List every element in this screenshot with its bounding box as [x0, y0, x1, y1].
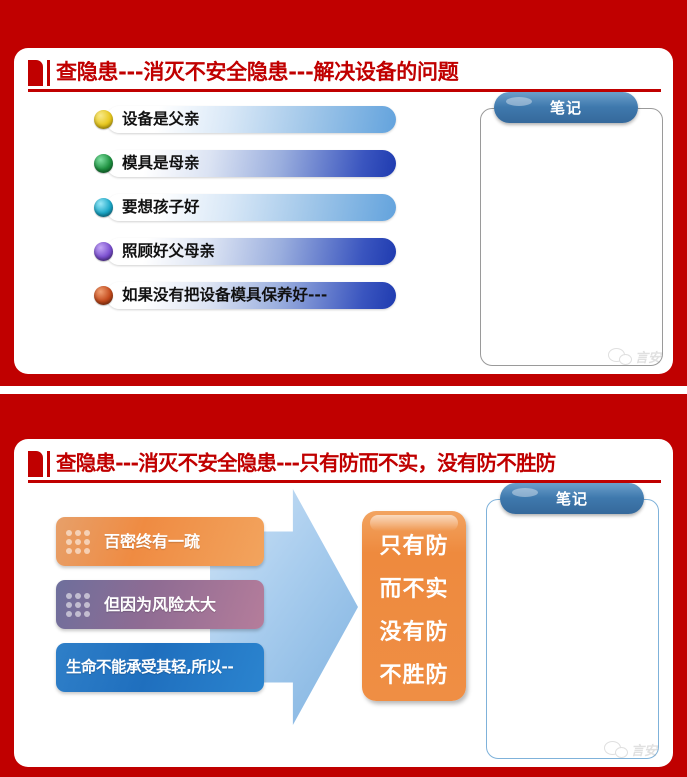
slide-separator	[0, 386, 687, 394]
list-item-label: 照顾好父母亲	[122, 240, 215, 263]
wechat-logo-icon	[608, 348, 632, 365]
list-item-label: 要想孩子好	[122, 196, 200, 219]
list-item[interactable]: 百密终有一疏	[56, 517, 264, 566]
slide-1-notes-panel: 笔记 那就是对父母的 不忠不孝! 言安	[476, 92, 673, 370]
bullet-dot-icon	[94, 242, 113, 261]
list-item-label: 百密终有一疏	[104, 530, 200, 553]
list-item-label: 模具是母亲	[122, 152, 200, 175]
slide-2: 查隐患---消灭不安全隐患---只有防而不实，没有防不胜防 百密终有一疏 但因为…	[0, 394, 687, 777]
slide-2-notes-panel: 笔记 责任重于泰山 严防死守 超零灾害迈进 言安	[482, 483, 669, 763]
notes-tab[interactable]: 笔记	[494, 92, 638, 123]
list-item-label: 但因为风险太大	[104, 593, 216, 616]
conclusion-lines: 只有防 而不实 没有防 不胜防	[362, 525, 466, 697]
watermark: 言安	[604, 740, 657, 759]
bullet-dot-icon	[94, 154, 113, 173]
list-item-label: 生命不能承受其轻,所以--	[66, 656, 233, 679]
bullet-dot-icon	[94, 110, 113, 129]
list-item[interactable]: 如果没有把设备模具保养好---	[94, 282, 476, 309]
dot-grid-icon	[66, 593, 90, 617]
dot-grid-icon	[66, 530, 90, 554]
slide-1: 查隐患---消灭不安全隐患---解决设备的问题 设备是父亲 模具是母亲	[0, 0, 687, 386]
notes-tab-label: 笔记	[500, 488, 644, 509]
bullet-dot-icon	[94, 198, 113, 217]
conclusion-line: 只有防	[362, 525, 466, 568]
slide-1-panel: 查隐患---消灭不安全隐患---解决设备的问题 设备是父亲 模具是母亲	[14, 48, 673, 374]
title-marker-icon	[28, 451, 43, 477]
slide-2-title: 查隐患---消灭不安全隐患---只有防而不实，没有防不胜防	[56, 449, 555, 477]
notes-box	[480, 108, 663, 366]
slide-2-box-list: 百密终有一疏 但因为风险太大 生命不能承受其轻,所以--	[56, 517, 264, 706]
notes-tab-label: 笔记	[494, 97, 638, 118]
list-item-label: 设备是父亲	[122, 108, 200, 131]
conclusion-line: 没有防	[362, 611, 466, 654]
notes-box	[486, 499, 659, 759]
slide-1-title: 查隐患---消灭不安全隐患---解决设备的问题	[56, 58, 458, 86]
watermark-label: 言安	[631, 740, 657, 759]
list-item[interactable]: 模具是母亲	[94, 150, 476, 177]
notes-tab[interactable]: 笔记	[500, 483, 644, 514]
watermark: 言安	[608, 347, 661, 366]
slide-1-bullet-list: 设备是父亲 模具是母亲 要想孩子好 照顾好父母亲	[14, 92, 476, 370]
slide-1-body: 设备是父亲 模具是母亲 要想孩子好 照顾好父母亲	[14, 92, 673, 370]
title-marker-icon	[28, 60, 43, 86]
list-item[interactable]: 照顾好父母亲	[94, 238, 476, 265]
slide-2-panel: 查隐患---消灭不安全隐患---只有防而不实，没有防不胜防 百密终有一疏 但因为…	[14, 439, 673, 767]
title-divider-bar	[47, 60, 50, 86]
wechat-bubble-small	[619, 354, 632, 365]
slide-2-title-row: 查隐患---消灭不安全隐患---只有防而不实，没有防不胜防	[14, 439, 673, 477]
title-divider-bar	[47, 451, 50, 477]
slide-1-title-row: 查隐患---消灭不安全隐患---解决设备的问题	[14, 48, 673, 86]
bullet-dot-icon	[94, 286, 113, 305]
list-item[interactable]: 但因为风险太大	[56, 580, 264, 629]
watermark-label: 言安	[635, 347, 661, 366]
list-item[interactable]: 要想孩子好	[94, 194, 476, 221]
list-item[interactable]: 生命不能承受其轻,所以--	[56, 643, 264, 692]
list-item-label: 如果没有把设备模具保养好---	[122, 284, 327, 307]
wechat-logo-icon	[604, 741, 628, 758]
slide-2-body: 百密终有一疏 但因为风险太大 生命不能承受其轻,所以--	[14, 483, 673, 765]
conclusion-line: 不胜防	[362, 654, 466, 697]
list-item[interactable]: 设备是父亲	[94, 106, 476, 133]
conclusion-line: 而不实	[362, 568, 466, 611]
conclusion-callout: 只有防 而不实 没有防 不胜防	[362, 511, 466, 701]
wechat-bubble-small	[615, 747, 628, 758]
